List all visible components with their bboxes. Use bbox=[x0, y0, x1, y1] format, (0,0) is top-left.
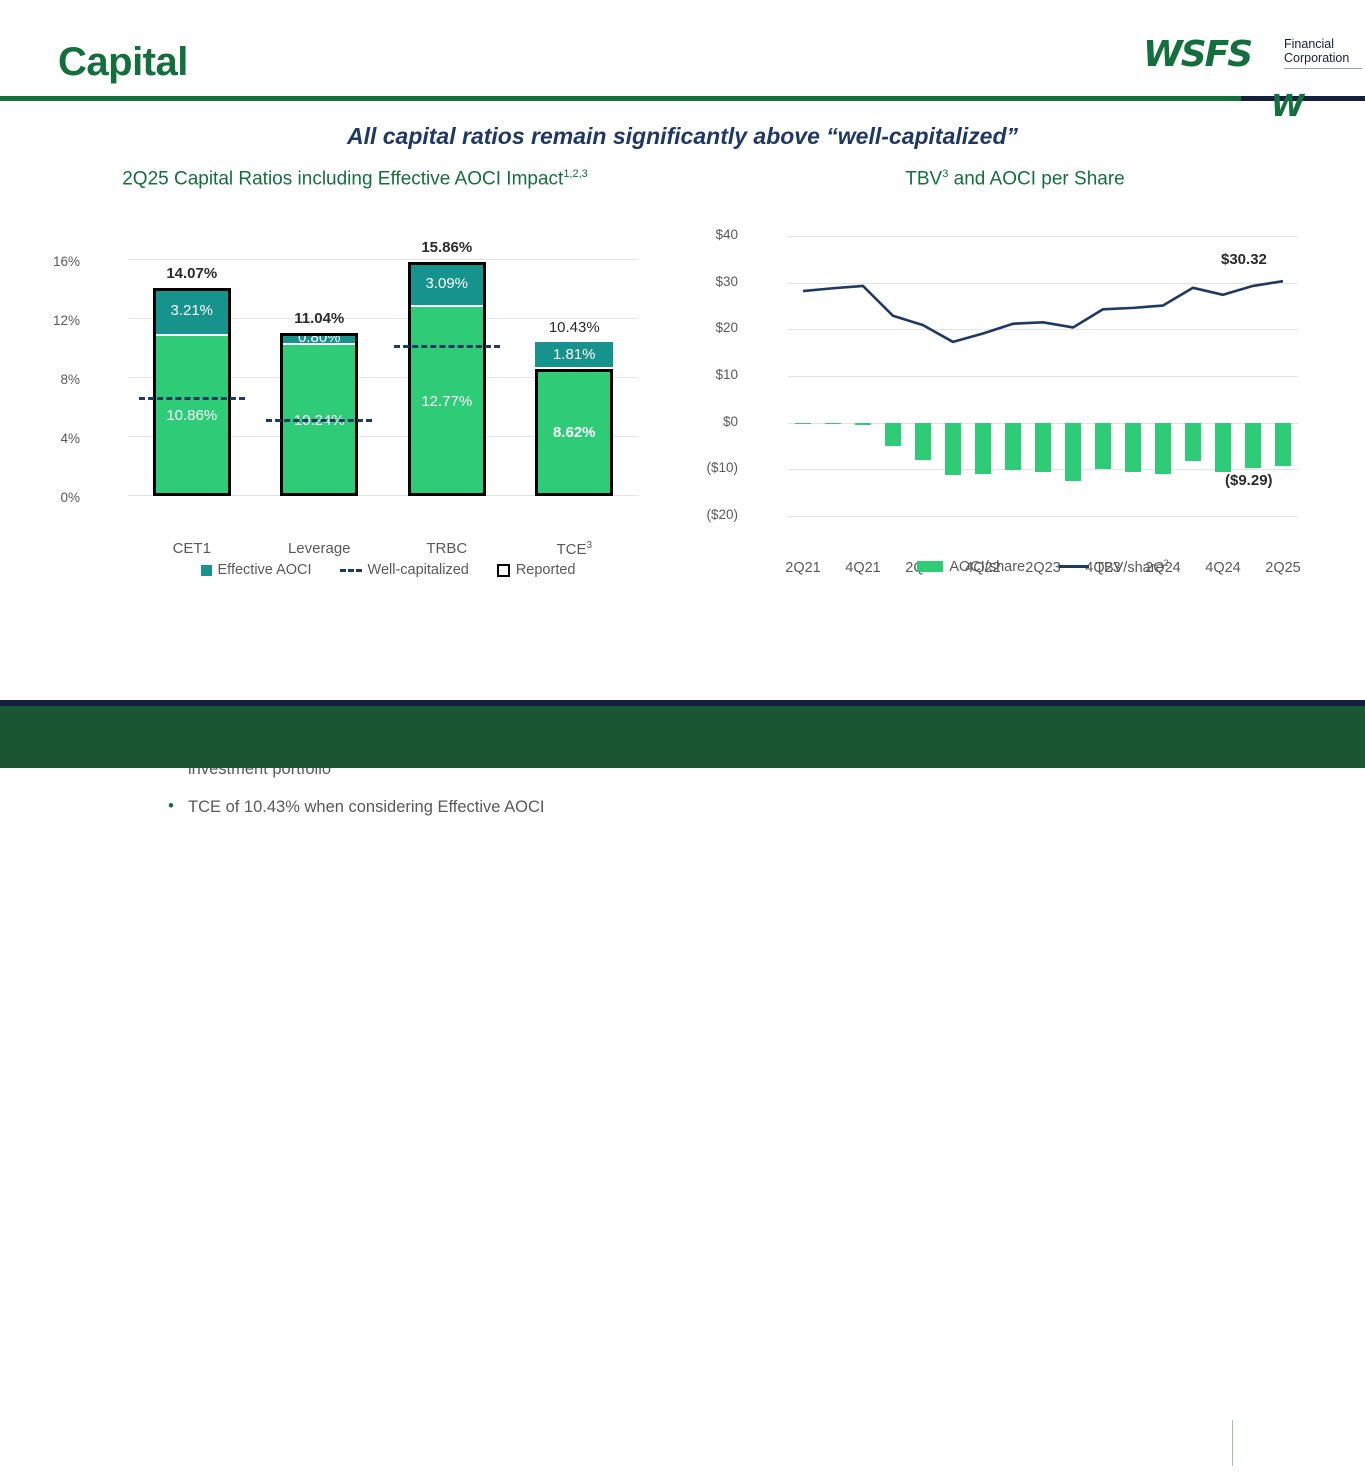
capital-ratios-chart: 0%4%8%12%16%10.86%3.21%14.07%CET110.24%0… bbox=[30, 198, 680, 548]
capital-total-label: 15.86% bbox=[392, 239, 502, 256]
capital-x-axis-label: CET1 bbox=[132, 540, 252, 557]
dashed-line-icon bbox=[340, 569, 362, 572]
tbv-chart-title-suffix: and AOCI per Share bbox=[948, 168, 1124, 189]
capital-bar-column: 10.24%0.80% bbox=[280, 333, 358, 496]
tbv-aoci-panel: TBV3 and AOCI per Share ($20)($10)$0$10$… bbox=[690, 168, 1340, 688]
capital-y-axis-tick: 4% bbox=[20, 431, 80, 446]
tbv-y-axis-tick: $30 bbox=[676, 274, 738, 289]
capital-effective-aoci-value-label: 1.81% bbox=[553, 346, 596, 363]
capital-bullet-text: TCE of 10.43% when considering Effective… bbox=[188, 798, 544, 816]
legend-label-aoci-per-share: AOCI/share bbox=[949, 559, 1025, 575]
legend-label-tbv-text: TBV/share bbox=[1095, 560, 1164, 576]
capital-total-label: 14.07% bbox=[137, 265, 247, 282]
tbv-y-axis-tick: $40 bbox=[676, 227, 738, 242]
logo-navy-rule bbox=[1241, 96, 1365, 101]
capital-effective-aoci-value-label: 0.80% bbox=[298, 329, 341, 346]
capital-reported-segment: 12.77% bbox=[408, 307, 486, 496]
capital-y-axis-tick: 16% bbox=[20, 254, 80, 269]
tbv-y-axis-tick: $10 bbox=[676, 367, 738, 382]
capital-y-axis-tick: 12% bbox=[20, 313, 80, 328]
tbv-y-axis-tick: $0 bbox=[676, 414, 738, 429]
tbv-y-axis-tick: ($10) bbox=[676, 460, 738, 475]
capital-chart-plot-area: 0%4%8%12%16%10.86%3.21%14.07%CET110.24%0… bbox=[128, 236, 638, 496]
tbv-gridline bbox=[788, 516, 1298, 517]
capital-reported-value-label: 8.62% bbox=[553, 424, 596, 441]
well-capitalized-threshold-line bbox=[139, 397, 245, 400]
legend-label-well-capitalized: Well-capitalized bbox=[368, 562, 469, 578]
tbv-y-axis-tick: ($20) bbox=[676, 507, 738, 522]
capital-reported-value-label: 12.77% bbox=[421, 393, 472, 410]
capital-effective-aoci-segment: 3.09% bbox=[408, 262, 486, 306]
logo-subtitle-line2: Corporation bbox=[1284, 52, 1360, 66]
green-bar-icon bbox=[917, 561, 943, 572]
tbv-aoci-chart: ($20)($10)$0$10$20$30$402Q214Q212Q224Q22… bbox=[690, 198, 1340, 548]
capital-bar-column: 12.77%3.09% bbox=[408, 262, 486, 496]
tbv-line-path bbox=[803, 281, 1283, 342]
page-title: Capital bbox=[58, 40, 188, 85]
capital-reported-segment: 8.62% bbox=[535, 369, 613, 496]
wsfs-logo: WSFS Financial Corporation W bbox=[1121, 34, 1361, 108]
logo-underline bbox=[1284, 68, 1362, 69]
capital-reported-segment: 10.86% bbox=[153, 336, 231, 496]
footer-divider bbox=[1232, 1420, 1233, 1466]
legend-label-tbv-superscript: 2 bbox=[1164, 558, 1169, 568]
capital-y-axis-tick: 8% bbox=[20, 372, 80, 387]
tbv-line-series bbox=[788, 236, 1298, 516]
capital-total-label: 11.04% bbox=[264, 310, 374, 327]
tbv-chart-plot-area: ($20)($10)$0$10$20$30$402Q214Q212Q224Q22… bbox=[788, 236, 1298, 516]
capital-chart-title-superscript: 1,2,3 bbox=[563, 168, 587, 180]
teal-square-icon bbox=[201, 565, 212, 576]
capital-ratios-panel: 2Q25 Capital Ratios including Effective … bbox=[30, 168, 680, 688]
capital-total-label: 10.43% bbox=[519, 319, 629, 336]
capital-x-axis-label: Leverage bbox=[259, 540, 379, 557]
outline-square-icon bbox=[497, 564, 510, 577]
navy-line-icon bbox=[1059, 565, 1089, 568]
capital-chart-title: 2Q25 Capital Ratios including Effective … bbox=[30, 168, 680, 198]
legend-item-reported: Reported bbox=[497, 562, 576, 578]
footnote-text: This is a non-GAAP financial measure and… bbox=[51, 1465, 1185, 1477]
capital-x-axis-label: TRBC bbox=[387, 540, 507, 557]
capital-chart-title-text: 2Q25 Capital Ratios including Effective … bbox=[122, 168, 563, 189]
legend-item-effective-aoci: Effective AOCI bbox=[201, 562, 312, 578]
tbv-y-axis-tick: $20 bbox=[676, 320, 738, 335]
logo-subtitle: Financial Corporation bbox=[1284, 38, 1360, 65]
capital-chart-legend: Effective AOCI Well-capitalized Reported bbox=[128, 562, 648, 578]
footnote-text: Capital ratios reflect corporate-level m… bbox=[51, 1444, 275, 1456]
capital-x-axis-label-text: TCE bbox=[556, 541, 586, 558]
capital-y-axis-tick: 0% bbox=[20, 490, 80, 505]
capital-bullet: TCE of 10.43% when considering Effective… bbox=[158, 795, 658, 819]
well-capitalized-threshold-line bbox=[394, 345, 500, 348]
capital-reported-value-label: 10.86% bbox=[166, 407, 217, 424]
footnote: 2 Capital ratios reflect corporate-level… bbox=[46, 1437, 1226, 1458]
capital-bar-column: 8.62%1.81% bbox=[535, 342, 613, 496]
legend-label-reported: Reported bbox=[516, 562, 576, 578]
logo-wordmark: WSFS bbox=[1143, 34, 1251, 75]
capital-x-axis-label-superscript: 3 bbox=[586, 540, 592, 551]
capital-x-axis-label: TCE3 bbox=[514, 540, 634, 558]
capital-effective-aoci-value-label: 3.09% bbox=[425, 275, 468, 292]
footnote: 3 This is a non-GAAP financial measure a… bbox=[46, 1459, 1226, 1480]
footer-band: 1 Effective AOCI ($625.1mm) includes AFS… bbox=[0, 706, 1365, 768]
legend-label-tbv-per-share: TBV/share2 bbox=[1095, 558, 1169, 576]
footnote-list: 1 Effective AOCI ($625.1mm) includes AFS… bbox=[46, 1416, 1226, 1480]
capital-effective-aoci-segment: 0.80% bbox=[280, 333, 358, 343]
tbv-chart-title: TBV3 and AOCI per Share bbox=[690, 168, 1340, 198]
logo-w-mark: W bbox=[1271, 94, 1302, 120]
capital-x-axis-label-text: TRBC bbox=[426, 540, 467, 557]
tbv-value-annotation: $30.32 bbox=[1221, 251, 1267, 268]
tbv-chart-legend: AOCI/share TBV/share2 bbox=[788, 558, 1298, 576]
legend-label-effective-aoci: Effective AOCI bbox=[218, 562, 312, 578]
aoci-value-annotation: ($9.29) bbox=[1225, 472, 1273, 489]
page-number: 8 bbox=[1262, 1424, 1322, 1448]
capital-x-axis-label-text: CET1 bbox=[173, 540, 211, 557]
logo-subtitle-line1: Financial bbox=[1284, 38, 1360, 52]
capital-bar-column: 10.86%3.21% bbox=[153, 288, 231, 496]
slide-subtitle: All capital ratios remain significantly … bbox=[0, 123, 1365, 150]
legend-item-tbv-per-share: TBV/share2 bbox=[1059, 558, 1169, 576]
capital-effective-aoci-value-label: 3.21% bbox=[170, 302, 213, 319]
capital-effective-aoci-segment: 1.81% bbox=[535, 342, 613, 367]
capital-x-axis-label-text: Leverage bbox=[288, 540, 351, 557]
footnote: 1 Effective AOCI ($625.1mm) includes AFS… bbox=[46, 1416, 1226, 1437]
capital-gridline bbox=[128, 259, 638, 260]
legend-item-well-capitalized: Well-capitalized bbox=[340, 562, 469, 578]
footnote-text: Effective AOCI ($625.1mm) includes AFS a… bbox=[51, 1423, 712, 1435]
tbv-chart-title-prefix: TBV bbox=[905, 168, 942, 189]
legend-item-aoci-per-share: AOCI/share bbox=[917, 559, 1025, 575]
capital-effective-aoci-segment: 3.21% bbox=[153, 288, 231, 333]
well-capitalized-threshold-line bbox=[266, 419, 372, 422]
